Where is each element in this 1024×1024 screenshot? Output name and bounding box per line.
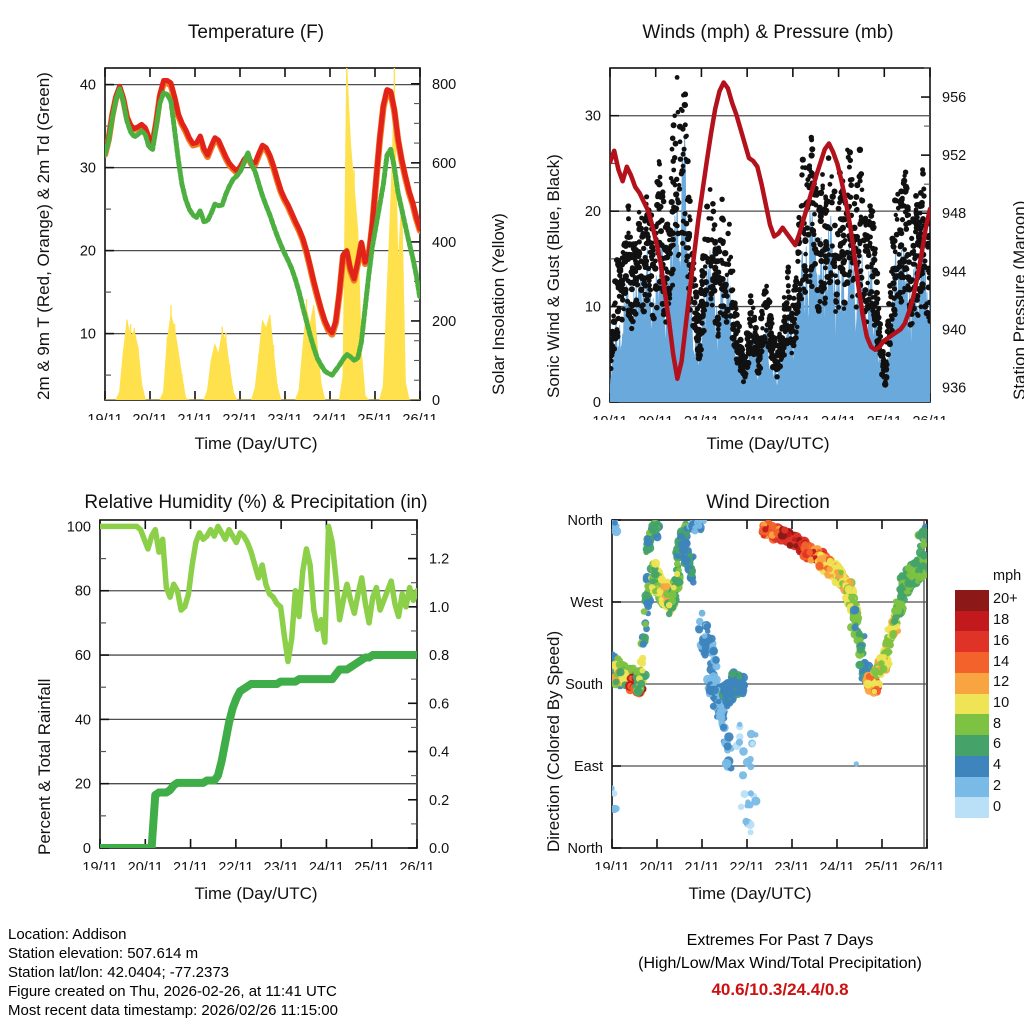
svg-text:22/11: 22/11 [729,860,764,870]
svg-text:0.0: 0.0 [429,841,449,857]
svg-text:800: 800 [432,77,456,93]
svg-text:21/11: 21/11 [177,412,212,420]
winds-x-axis-label: Time (Day/UTC) [512,434,1024,454]
svg-text:21/11: 21/11 [684,414,719,420]
humidity-plot: 0204060801000.00.20.40.60.81.01.219/1120… [0,470,512,870]
extremes-values: 40.6/10.3/24.4/0.8 [560,980,1000,1000]
svg-text:25/11: 25/11 [867,414,902,420]
svg-text:956: 956 [942,90,966,106]
colorbar-band [955,652,989,673]
svg-text:952: 952 [942,148,966,164]
svg-text:North: North [568,513,603,529]
svg-text:948: 948 [942,206,966,222]
svg-text:26/11: 26/11 [912,414,947,420]
colorbar-band [955,714,989,735]
svg-text:24/11: 24/11 [312,412,347,420]
colorbar-tick-label: 10 [993,695,1009,711]
svg-text:19/11: 19/11 [592,414,627,420]
svg-text:23/11: 23/11 [775,414,810,420]
svg-text:1.2: 1.2 [429,552,449,568]
svg-text:30: 30 [80,161,96,177]
winds-plot: 010203093694094494895295619/1120/1121/11… [512,0,1024,420]
colorbar-tick-label: 0 [993,799,1001,815]
colorbar-band [955,694,989,715]
footer-text-line: Most recent data timestamp: 2026/02/26 1… [8,1002,338,1019]
svg-text:400: 400 [432,235,456,251]
colorbar-tick-label: 16 [993,633,1009,649]
footer-text-line: Station elevation: 507.614 m [8,945,198,962]
colorbar-band [955,797,989,818]
svg-text:20: 20 [80,244,96,260]
winds-panel: Winds (mph) & Pressure (mb) Sonic Wind &… [512,0,1024,470]
colorbar-band [955,735,989,756]
svg-text:North: North [568,841,603,857]
colorbar-band [955,611,989,632]
svg-text:19/11: 19/11 [594,860,629,870]
svg-text:20: 20 [75,777,91,793]
extremes-subtitle: (High/Low/Max Wind/Total Precipitation) [560,955,1000,973]
svg-text:19/11: 19/11 [82,860,117,870]
humidity-x-axis-label: Time (Day/UTC) [0,884,512,904]
wind-direction-plot: NorthWestSouthEastNorth19/1120/1121/1122… [512,470,1024,870]
svg-text:22/11: 22/11 [730,414,765,420]
svg-text:0: 0 [432,393,440,409]
colorbar-unit-label: mph [993,568,1021,584]
svg-text:944: 944 [942,264,966,280]
temperature-plot: 10203040020040060080019/1120/1121/1122/1… [0,0,512,420]
svg-text:East: East [574,759,603,775]
svg-text:22/11: 22/11 [218,860,253,870]
colorbar-tick-label: 12 [993,674,1009,690]
svg-text:0.8: 0.8 [429,648,449,664]
svg-text:24/11: 24/11 [821,414,856,420]
svg-text:936: 936 [942,380,966,396]
svg-text:23/11: 23/11 [264,860,299,870]
svg-text:21/11: 21/11 [173,860,208,870]
temperature-panel: Temperature (F) 2m & 9m T (Red, Orange) … [0,0,512,470]
colorbar-tick-label: 2 [993,778,1001,794]
colorbar-tick-label: 4 [993,757,1001,773]
svg-text:10: 10 [585,300,601,316]
colorbar-band [955,673,989,694]
svg-text:West: West [570,595,603,611]
colorbar-band [955,756,989,777]
svg-text:20/11: 20/11 [639,860,674,870]
svg-text:21/11: 21/11 [684,860,719,870]
colorbar-tick-label: 14 [993,654,1009,670]
svg-text:19/11: 19/11 [87,412,122,420]
svg-text:25/11: 25/11 [357,412,392,420]
svg-text:20: 20 [585,204,601,220]
svg-text:20/11: 20/11 [638,414,673,420]
svg-text:South: South [565,677,603,693]
svg-text:1.0: 1.0 [429,600,449,616]
wind-direction-panel: Wind Direction Direction (Colored By Spe… [512,470,1024,920]
svg-text:940: 940 [942,322,966,338]
svg-text:0.4: 0.4 [429,745,449,761]
colorbar-tick-label: 8 [993,716,1001,732]
svg-text:0: 0 [83,841,91,857]
svg-text:10: 10 [80,327,96,343]
svg-text:30: 30 [585,109,601,125]
svg-text:0: 0 [593,395,601,411]
svg-text:25/11: 25/11 [864,860,899,870]
svg-text:80: 80 [75,584,91,600]
svg-text:40: 40 [75,712,91,728]
footer-text-line: Figure created on Thu, 2026-02-26, at 11… [8,983,337,1000]
temperature-x-axis-label: Time (Day/UTC) [0,434,512,454]
svg-text:60: 60 [75,648,91,664]
svg-text:25/11: 25/11 [354,860,389,870]
footer-text-line: Station lat/lon: 42.0404; -77.2373 [8,964,229,981]
svg-text:40: 40 [80,78,96,94]
colorbar-tick-label: 6 [993,736,1001,752]
colorbar-tick-label: 20+ [993,591,1018,607]
colorbar-band [955,777,989,798]
svg-text:26/11: 26/11 [402,412,437,420]
wind-direction-x-axis-label: Time (Day/UTC) [494,884,1006,904]
svg-text:20/11: 20/11 [128,860,163,870]
svg-text:600: 600 [432,156,456,172]
humidity-panel: Relative Humidity (%) & Precipitation (i… [0,470,512,920]
svg-text:24/11: 24/11 [819,860,854,870]
colorbar-tick-label: 18 [993,612,1009,628]
svg-text:100: 100 [67,519,91,535]
svg-text:23/11: 23/11 [267,412,302,420]
svg-text:0.6: 0.6 [429,696,449,712]
colorbar-band [955,590,989,611]
svg-text:200: 200 [432,314,456,330]
svg-text:26/11: 26/11 [399,860,434,870]
svg-text:0.2: 0.2 [429,793,449,809]
colorbar-band [955,631,989,652]
wind-direction-colorbar [955,590,989,818]
svg-text:26/11: 26/11 [909,860,944,870]
svg-text:22/11: 22/11 [222,412,257,420]
svg-text:23/11: 23/11 [774,860,809,870]
footer-text-line: Location: Addison [8,926,126,943]
extremes-title: Extremes For Past 7 Days [560,932,1000,950]
svg-text:24/11: 24/11 [309,860,344,870]
svg-text:20/11: 20/11 [132,412,167,420]
